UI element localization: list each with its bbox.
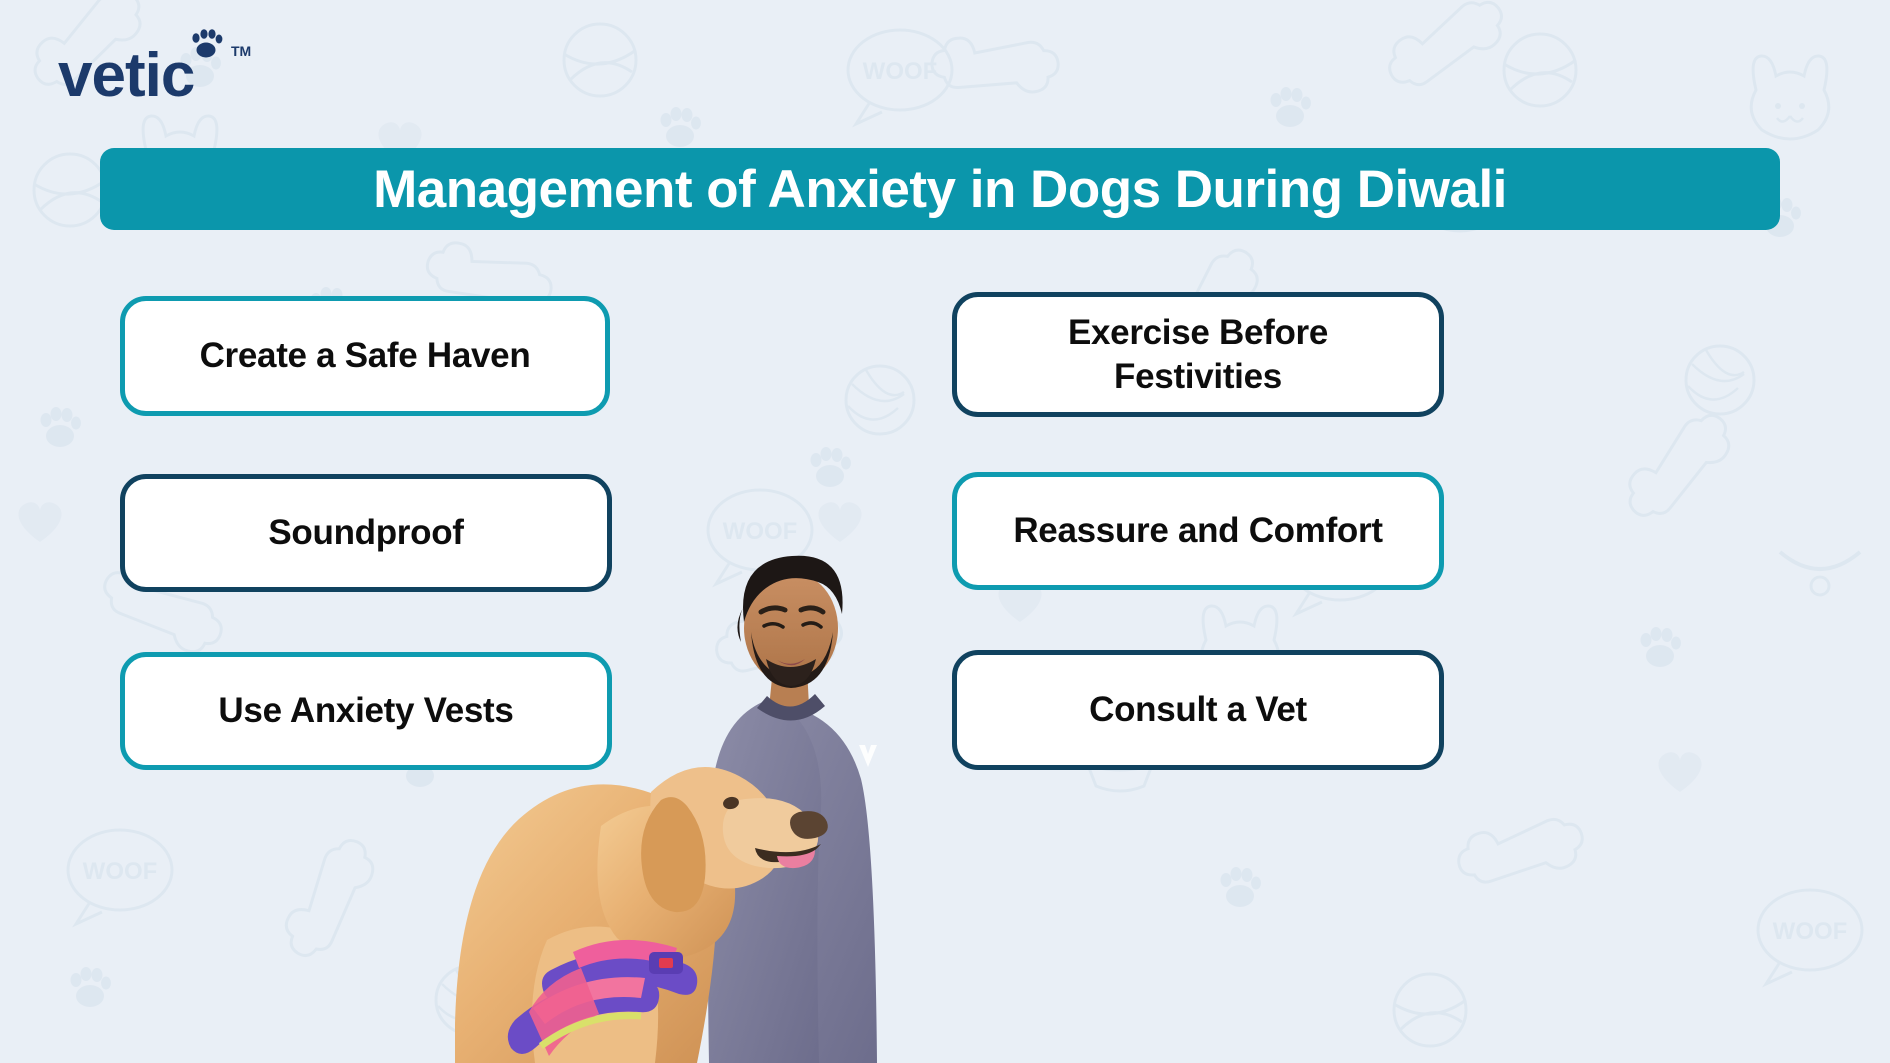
- tip-card-reassure-and-comfort[interactable]: Reassure and Comfort: [952, 472, 1444, 590]
- svg-text:vetic: vetic: [58, 41, 194, 108]
- tip-card-label: Exercise Before Festivities: [985, 311, 1411, 399]
- tip-card-label: Soundproof: [268, 511, 463, 555]
- tip-card-label: Reassure and Comfort: [1013, 509, 1382, 553]
- trademark-symbol: TM: [231, 43, 251, 59]
- tip-card-label: Consult a Vet: [1089, 688, 1307, 732]
- infographic-canvas: WOOF: [0, 0, 1890, 1063]
- golden-retriever-figure: [455, 767, 828, 1063]
- tip-card-use-anxiety-vests[interactable]: Use Anxiety Vests: [120, 652, 612, 770]
- veterinarian-figure: [602, 556, 877, 1063]
- scrubs-logo-badge: [859, 745, 877, 767]
- tip-card-consult-a-vet[interactable]: Consult a Vet: [952, 650, 1444, 770]
- tip-card-exercise-before-festivities[interactable]: Exercise Before Festivities: [952, 292, 1444, 417]
- tip-card-soundproof[interactable]: Soundproof: [120, 474, 612, 592]
- title-banner: Management of Anxiety in Dogs During Diw…: [100, 148, 1780, 230]
- page-title: Management of Anxiety in Dogs During Diw…: [373, 163, 1507, 216]
- tip-card-label: Create a Safe Haven: [200, 334, 531, 378]
- vetic-logo[interactable]: vetic TM: [58, 28, 268, 108]
- tip-card-create-a-safe-haven[interactable]: Create a Safe Haven: [120, 296, 610, 416]
- tip-card-label: Use Anxiety Vests: [218, 689, 513, 733]
- dog-harness: [508, 940, 697, 1056]
- paw-print-icon: [192, 29, 222, 57]
